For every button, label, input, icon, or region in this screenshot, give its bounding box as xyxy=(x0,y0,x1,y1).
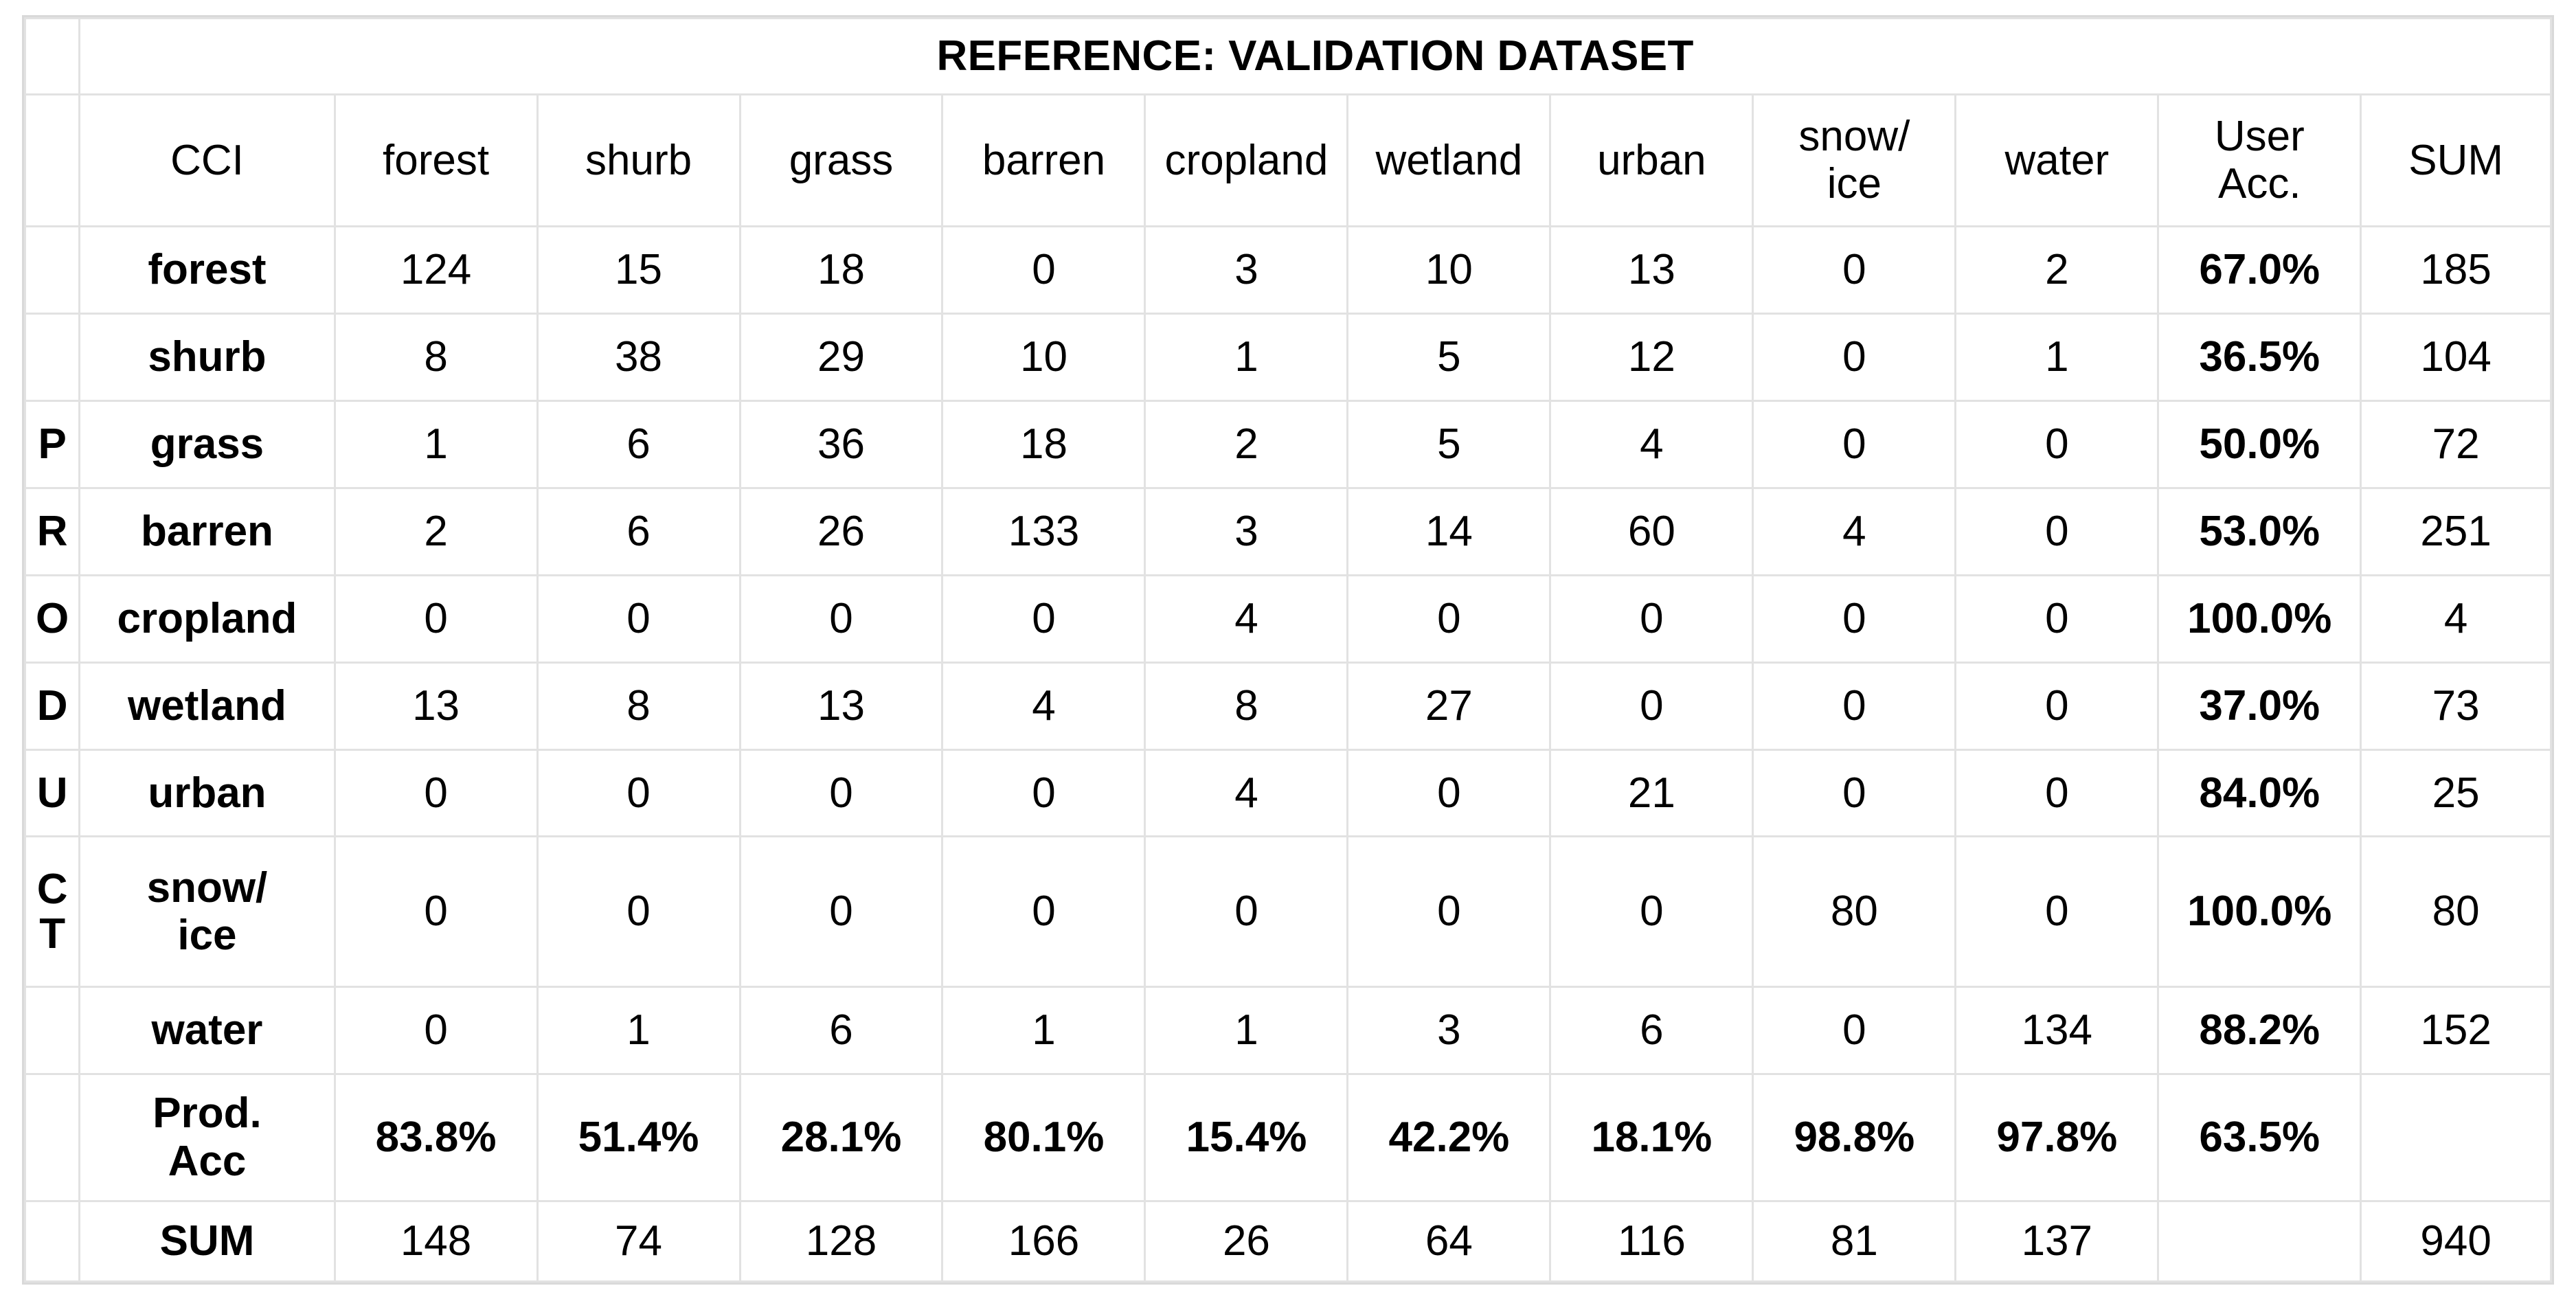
row-sum-grass: 72 xyxy=(2361,400,2551,488)
user-acc-water: 88.2% xyxy=(2158,987,2361,1074)
table-row: U urban 0 0 0 0 4 0 21 0 0 84.0% 25 xyxy=(25,749,2551,837)
row-header-sum: SUM xyxy=(80,1201,335,1281)
table-row: P grass 1 6 36 18 2 5 4 0 0 50.0% 72 xyxy=(25,400,2551,488)
cell-water-grass: 6 xyxy=(740,987,942,1074)
cell-water-urban: 6 xyxy=(1550,987,1753,1074)
cell-grass-shurb: 6 xyxy=(537,400,740,488)
column-header-forest: forest xyxy=(335,94,537,226)
cell-water-snow-ice: 0 xyxy=(1753,987,1956,1074)
col-sum-cropland: 26 xyxy=(1145,1201,1348,1281)
cell-forest-urban: 13 xyxy=(1550,226,1753,313)
user-acc-grass: 50.0% xyxy=(2158,400,2361,488)
column-header-water: water xyxy=(1956,94,2158,226)
user-acc-urban: 84.0% xyxy=(2158,749,2361,837)
cell-snow-ice-cropland: 0 xyxy=(1145,837,1348,987)
table-row: D wetland 13 8 13 4 8 27 0 0 0 37.0% 73 xyxy=(25,662,2551,749)
spine-header-blank xyxy=(25,94,80,226)
cell-snow-ice-grass: 0 xyxy=(740,837,942,987)
column-header-cropland: cropland xyxy=(1145,94,1348,226)
spine-blank-3 xyxy=(25,1074,80,1201)
column-header-snow-ice: snow/ice xyxy=(1753,94,1956,226)
reference-title: REFERENCE: VALIDATION DATASET xyxy=(80,19,2551,95)
row-sum-cropland: 4 xyxy=(2361,575,2551,662)
col-sum-wetland: 64 xyxy=(1348,1201,1550,1281)
prod-acc-snow-ice: 98.8% xyxy=(1753,1074,1956,1201)
row-header-forest: forest xyxy=(80,226,335,313)
cell-wetland-urban: 0 xyxy=(1550,662,1753,749)
cell-urban-snow-ice: 0 xyxy=(1753,749,1956,837)
cell-grass-water: 0 xyxy=(1956,400,2158,488)
cell-shurb-forest: 8 xyxy=(335,313,537,400)
title-row: REFERENCE: VALIDATION DATASET xyxy=(25,19,2551,95)
cell-forest-wetland: 10 xyxy=(1348,226,1550,313)
row-sum-wetland: 73 xyxy=(2361,662,2551,749)
spine-corner-blank xyxy=(25,19,80,95)
col-sum-forest: 148 xyxy=(335,1201,537,1281)
prod-acc-wetland: 42.2% xyxy=(1348,1074,1550,1201)
product-axis-letter-o: O xyxy=(25,575,80,662)
cell-urban-shurb: 0 xyxy=(537,749,740,837)
cell-cropland-grass: 0 xyxy=(740,575,942,662)
prod-acc-urban: 18.1% xyxy=(1550,1074,1753,1201)
cell-grass-forest: 1 xyxy=(335,400,537,488)
cell-snow-ice-forest: 0 xyxy=(335,837,537,987)
cell-barren-snow-ice: 4 xyxy=(1753,488,1956,575)
column-header-sum: SUM xyxy=(2361,94,2551,226)
row-header-snow-ice: snow/ice xyxy=(80,837,335,987)
spine-blank-1 xyxy=(25,313,80,400)
row-sum-water: 152 xyxy=(2361,987,2551,1074)
cell-water-forest: 0 xyxy=(335,987,537,1074)
product-axis-letter-t: T xyxy=(26,912,78,957)
confusion-matrix-table: REFERENCE: VALIDATION DATASET CCI forest… xyxy=(24,17,2552,1283)
cell-water-cropland: 1 xyxy=(1145,987,1348,1074)
cell-urban-grass: 0 xyxy=(740,749,942,837)
cell-grass-wetland: 5 xyxy=(1348,400,1550,488)
cell-forest-grass: 18 xyxy=(740,226,942,313)
column-header-wetland: wetland xyxy=(1348,94,1550,226)
user-acc-wetland: 37.0% xyxy=(2158,662,2361,749)
cell-forest-water: 2 xyxy=(1956,226,2158,313)
cell-barren-water: 0 xyxy=(1956,488,2158,575)
cell-cropland-forest: 0 xyxy=(335,575,537,662)
cell-wetland-shurb: 8 xyxy=(537,662,740,749)
cell-grass-urban: 4 xyxy=(1550,400,1753,488)
grand-total: 940 xyxy=(2361,1201,2551,1281)
cell-cropland-snow-ice: 0 xyxy=(1753,575,1956,662)
cell-shurb-urban: 12 xyxy=(1550,313,1753,400)
column-header-shurb: shurb xyxy=(537,94,740,226)
cell-forest-forest: 124 xyxy=(335,226,537,313)
cell-forest-barren: 0 xyxy=(942,226,1145,313)
cell-barren-cropland: 3 xyxy=(1145,488,1348,575)
cell-grass-barren: 18 xyxy=(942,400,1145,488)
sum-row-useracc-blank xyxy=(2158,1201,2361,1281)
row-sum-snow-ice: 80 xyxy=(2361,837,2551,987)
cell-cropland-shurb: 0 xyxy=(537,575,740,662)
cell-wetland-snow-ice: 0 xyxy=(1753,662,1956,749)
cell-wetland-wetland: 27 xyxy=(1348,662,1550,749)
row-header-shurb: shurb xyxy=(80,313,335,400)
column-header-grass: grass xyxy=(740,94,942,226)
cell-barren-grass: 26 xyxy=(740,488,942,575)
column-header-urban: urban xyxy=(1550,94,1753,226)
cell-grass-grass: 36 xyxy=(740,400,942,488)
prod-acc-barren: 80.1% xyxy=(942,1074,1145,1201)
table-row: C T snow/ice 0 0 0 0 0 0 0 80 0 100.0% 8… xyxy=(25,837,2551,987)
cell-barren-barren: 133 xyxy=(942,488,1145,575)
spine-blank-0 xyxy=(25,226,80,313)
user-acc-forest: 67.0% xyxy=(2158,226,2361,313)
cell-wetland-forest: 13 xyxy=(335,662,537,749)
cell-shurb-grass: 29 xyxy=(740,313,942,400)
column-header-user-acc: UserAcc. xyxy=(2158,94,2361,226)
cell-snow-ice-wetland: 0 xyxy=(1348,837,1550,987)
cell-snow-ice-water: 0 xyxy=(1956,837,2158,987)
cell-urban-water: 0 xyxy=(1956,749,2158,837)
col-sum-water: 137 xyxy=(1956,1201,2158,1281)
row-sum-barren: 251 xyxy=(2361,488,2551,575)
cell-shurb-cropland: 1 xyxy=(1145,313,1348,400)
product-axis-letter-r: R xyxy=(25,488,80,575)
cell-snow-ice-snow-ice: 80 xyxy=(1753,837,1956,987)
cell-urban-cropland: 4 xyxy=(1145,749,1348,837)
cell-grass-cropland: 2 xyxy=(1145,400,1348,488)
cci-corner-label: CCI xyxy=(80,94,335,226)
product-axis-letter-c: C xyxy=(26,867,78,912)
user-acc-cropland: 100.0% xyxy=(2158,575,2361,662)
cell-urban-wetland: 0 xyxy=(1348,749,1550,837)
cell-barren-forest: 2 xyxy=(335,488,537,575)
row-header-wetland: wetland xyxy=(80,662,335,749)
row-header-barren: barren xyxy=(80,488,335,575)
row-header-water: water xyxy=(80,987,335,1074)
cell-water-wetland: 3 xyxy=(1348,987,1550,1074)
row-sum-urban: 25 xyxy=(2361,749,2551,837)
overall-accuracy: 63.5% xyxy=(2158,1074,2361,1201)
cell-shurb-barren: 10 xyxy=(942,313,1145,400)
cell-forest-cropland: 3 xyxy=(1145,226,1348,313)
cell-barren-shurb: 6 xyxy=(537,488,740,575)
column-header-barren: barren xyxy=(942,94,1145,226)
cell-cropland-barren: 0 xyxy=(942,575,1145,662)
table-row: forest 124 15 18 0 3 10 13 0 2 67.0% 185 xyxy=(25,226,2551,313)
prod-acc-cropland: 15.4% xyxy=(1145,1074,1348,1201)
cell-cropland-wetland: 0 xyxy=(1348,575,1550,662)
producer-accuracy-row: Prod.Acc 83.8% 51.4% 28.1% 80.1% 15.4% 4… xyxy=(25,1074,2551,1201)
cell-water-shurb: 1 xyxy=(537,987,740,1074)
spine-blank-4 xyxy=(25,1201,80,1281)
row-header-prod-acc: Prod.Acc xyxy=(80,1074,335,1201)
col-sum-barren: 166 xyxy=(942,1201,1145,1281)
table-row: O cropland 0 0 0 0 4 0 0 0 0 100.0% 4 xyxy=(25,575,2551,662)
cell-urban-barren: 0 xyxy=(942,749,1145,837)
cell-barren-urban: 60 xyxy=(1550,488,1753,575)
product-axis-letter-d: D xyxy=(25,662,80,749)
prod-acc-water: 97.8% xyxy=(1956,1074,2158,1201)
prod-acc-shurb: 51.4% xyxy=(537,1074,740,1201)
spine-blank-2 xyxy=(25,987,80,1074)
cell-water-barren: 1 xyxy=(942,987,1145,1074)
col-sum-grass: 128 xyxy=(740,1201,942,1281)
cell-water-water: 134 xyxy=(1956,987,2158,1074)
cell-forest-shurb: 15 xyxy=(537,226,740,313)
product-axis-letters-ct: C T xyxy=(25,837,80,987)
cell-shurb-snow-ice: 0 xyxy=(1753,313,1956,400)
table-row: R barren 2 6 26 133 3 14 60 4 0 53.0% 25… xyxy=(25,488,2551,575)
cell-barren-wetland: 14 xyxy=(1348,488,1550,575)
row-sum-forest: 185 xyxy=(2361,226,2551,313)
cell-wetland-water: 0 xyxy=(1956,662,2158,749)
product-axis-letter-u: U xyxy=(25,749,80,837)
prod-acc-sum-blank xyxy=(2361,1074,2551,1201)
cell-wetland-grass: 13 xyxy=(740,662,942,749)
column-sum-row: SUM 148 74 128 166 26 64 116 81 137 940 xyxy=(25,1201,2551,1281)
col-sum-snow-ice: 81 xyxy=(1753,1201,1956,1281)
cell-forest-snow-ice: 0 xyxy=(1753,226,1956,313)
column-header-row: CCI forest shurb grass barren cropland w… xyxy=(25,94,2551,226)
cell-cropland-urban: 0 xyxy=(1550,575,1753,662)
col-sum-urban: 116 xyxy=(1550,1201,1753,1281)
row-header-urban: urban xyxy=(80,749,335,837)
cell-grass-snow-ice: 0 xyxy=(1753,400,1956,488)
col-sum-shurb: 74 xyxy=(537,1201,740,1281)
user-acc-snow-ice: 100.0% xyxy=(2158,837,2361,987)
row-header-grass: grass xyxy=(80,400,335,488)
row-sum-shurb: 104 xyxy=(2361,313,2551,400)
cell-shurb-shurb: 38 xyxy=(537,313,740,400)
row-header-cropland: cropland xyxy=(80,575,335,662)
table-row: shurb 8 38 29 10 1 5 12 0 1 36.5% 104 xyxy=(25,313,2551,400)
cell-wetland-cropland: 8 xyxy=(1145,662,1348,749)
cell-cropland-water: 0 xyxy=(1956,575,2158,662)
cell-shurb-water: 1 xyxy=(1956,313,2158,400)
cell-snow-ice-shurb: 0 xyxy=(537,837,740,987)
cell-cropland-cropland: 4 xyxy=(1145,575,1348,662)
cell-snow-ice-barren: 0 xyxy=(942,837,1145,987)
cell-urban-forest: 0 xyxy=(335,749,537,837)
cell-urban-urban: 21 xyxy=(1550,749,1753,837)
prod-acc-forest: 83.8% xyxy=(335,1074,537,1201)
product-axis-letter-p: P xyxy=(25,400,80,488)
prod-acc-grass: 28.1% xyxy=(740,1074,942,1201)
user-acc-shurb: 36.5% xyxy=(2158,313,2361,400)
confusion-matrix-sheet: REFERENCE: VALIDATION DATASET CCI forest… xyxy=(22,15,2554,1285)
cell-wetland-barren: 4 xyxy=(942,662,1145,749)
cell-shurb-wetland: 5 xyxy=(1348,313,1550,400)
user-acc-barren: 53.0% xyxy=(2158,488,2361,575)
cell-snow-ice-urban: 0 xyxy=(1550,837,1753,987)
table-row: water 0 1 6 1 1 3 6 0 134 88.2% 152 xyxy=(25,987,2551,1074)
